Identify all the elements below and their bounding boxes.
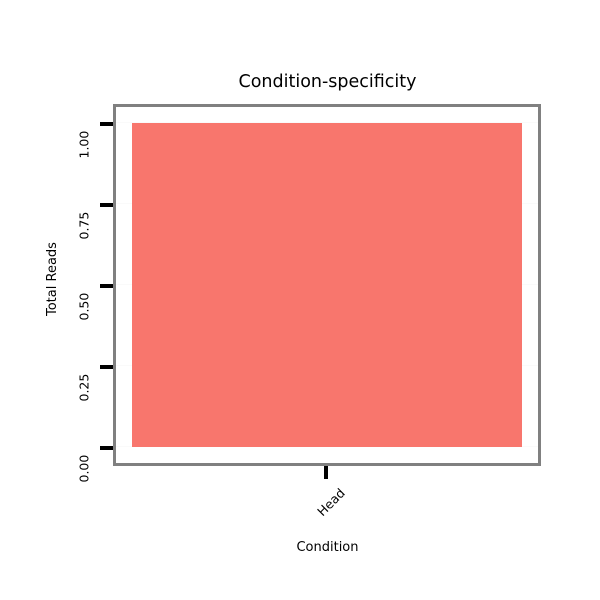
chart-plot-area: Condition-specificity Total Reads 1.00 0… [0, 0, 600, 600]
y-axis-title: Total Reads [46, 254, 60, 316]
y-tick-label-0.50: 0.50 [78, 287, 91, 321]
x-tick-label-head: Head [303, 486, 348, 531]
chart-title: Condition-specificity [0, 72, 600, 92]
plot-panel [113, 104, 541, 466]
y-tick-label-0.00: 0.00 [78, 449, 91, 483]
y-tick-mark-0.50 [100, 284, 113, 288]
bar-head[interactable] [132, 123, 522, 447]
y-tick-label-1.00: 1.00 [78, 125, 91, 159]
y-tick-mark-1.00 [100, 122, 113, 126]
y-tick-mark-0.25 [100, 365, 113, 369]
y-tick-label-0.75: 0.75 [78, 206, 91, 240]
y-tick-mark-0.75 [100, 203, 113, 207]
y-tick-label-0.25: 0.25 [78, 368, 91, 402]
x-axis-title: Condition [0, 540, 600, 555]
y-tick-mark-0.00 [100, 446, 113, 450]
panel-inner [116, 107, 538, 463]
x-tick-mark-head [324, 466, 328, 479]
